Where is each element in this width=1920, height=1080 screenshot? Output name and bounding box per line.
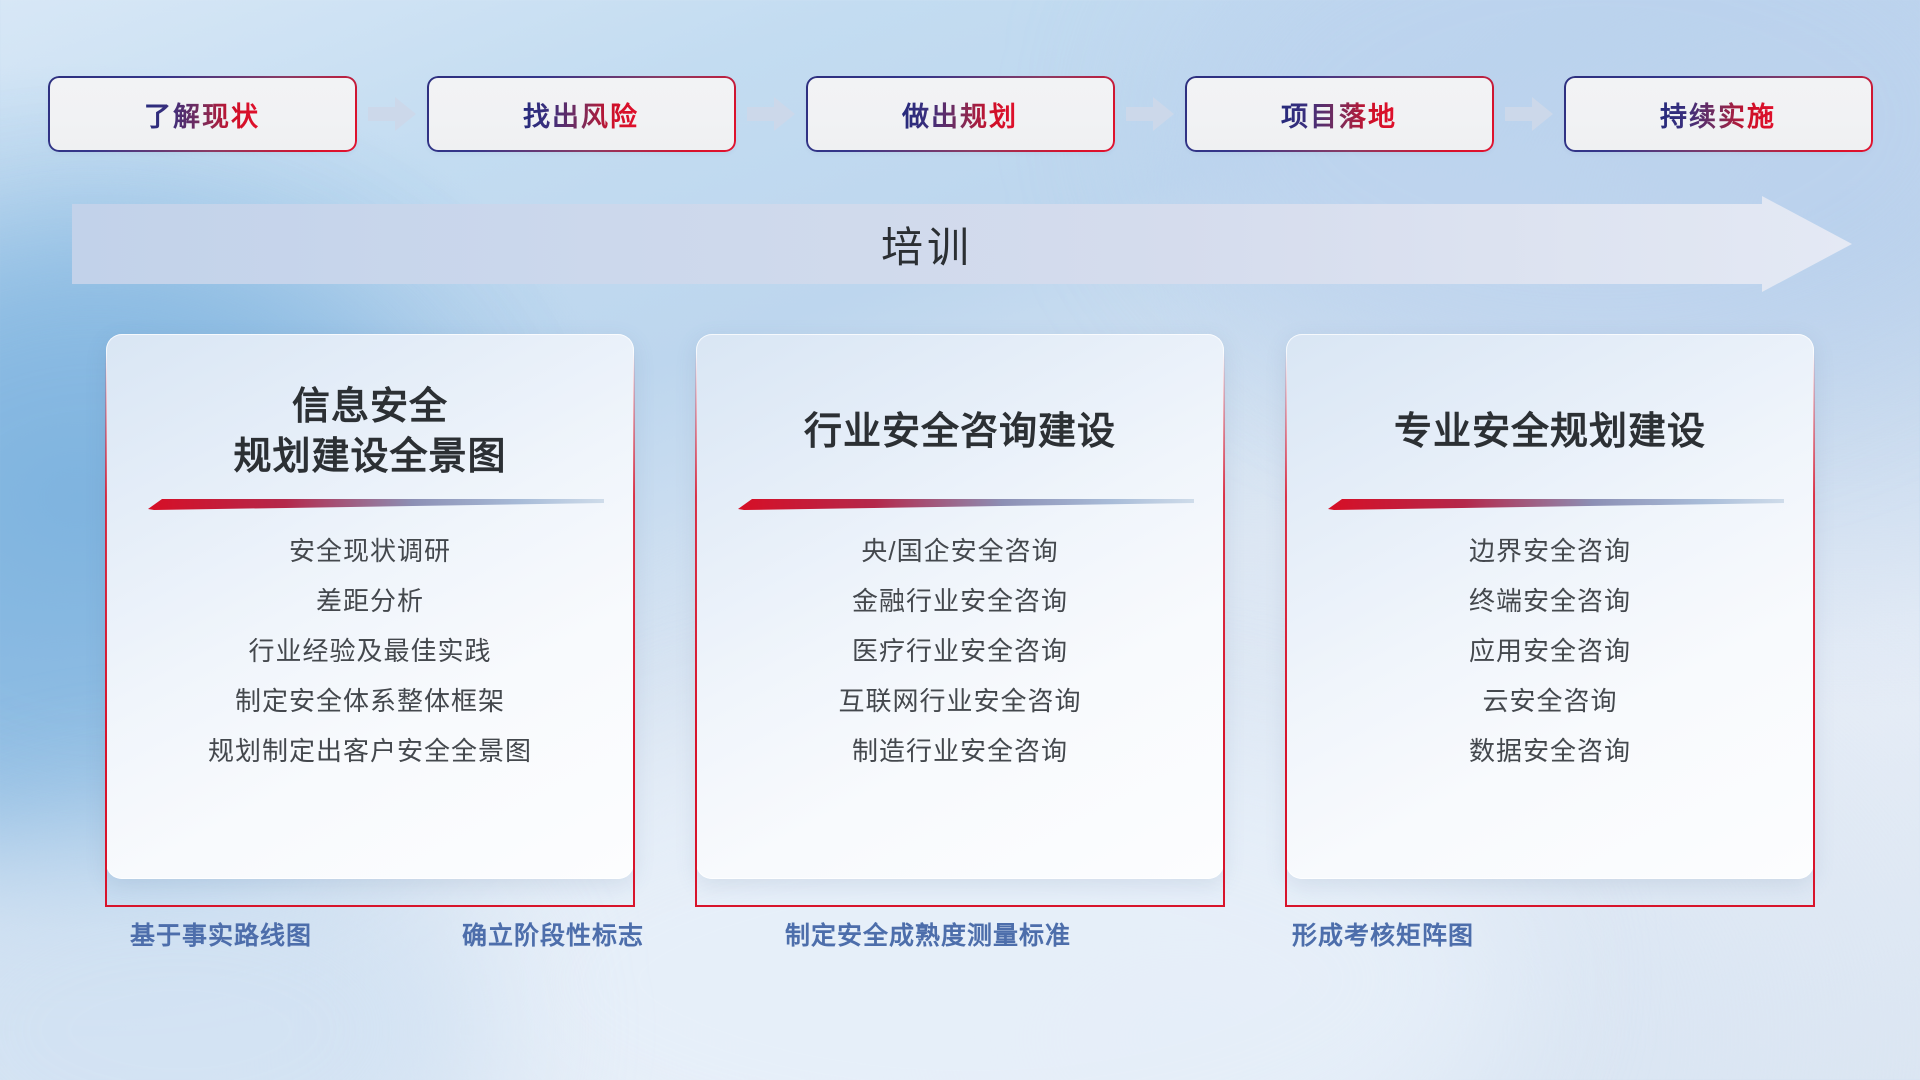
list-item: 数据安全咨询 bbox=[1322, 738, 1778, 764]
card-row: 信息安全 规划建设全景图 安全现状调研 差距分析 行业经 bbox=[0, 334, 1920, 879]
list-item: 云安全咨询 bbox=[1322, 688, 1778, 714]
step-box-4[interactable]: 项目落地 bbox=[1187, 78, 1492, 150]
list-item: 边界安全咨询 bbox=[1322, 538, 1778, 564]
list-item: 安全现状调研 bbox=[142, 538, 598, 564]
step-label: 找出风险 bbox=[523, 95, 639, 134]
caption-roadmap: 基于事实路线图 bbox=[130, 916, 312, 952]
card-divider-rule bbox=[738, 498, 1182, 512]
card-title: 行业安全咨询建设 bbox=[732, 380, 1188, 484]
card-title-line: 专业安全规划建设 bbox=[1322, 407, 1778, 457]
training-banner: 培训 bbox=[72, 196, 1852, 292]
card-title: 信息安全 规划建设全景图 bbox=[142, 380, 598, 484]
list-item: 医疗行业安全咨询 bbox=[732, 638, 1188, 664]
step-box-3[interactable]: 做出规划 bbox=[808, 78, 1113, 150]
list-item: 终端安全咨询 bbox=[1322, 588, 1778, 614]
step-label: 了解现状 bbox=[144, 95, 260, 134]
caption-maturity-standard: 制定安全成熟度测量标准 bbox=[785, 916, 1071, 952]
step-box-2[interactable]: 找出风险 bbox=[429, 78, 734, 150]
right-arrow-icon bbox=[1124, 94, 1176, 134]
card-item-list: 央/国企安全咨询 金融行业安全咨询 医疗行业安全咨询 互联网行业安全咨询 制造行… bbox=[732, 538, 1188, 764]
card-item-list: 安全现状调研 差距分析 行业经验及最佳实践 制定安全体系整体框架 规划制定出客户… bbox=[142, 538, 598, 764]
card-bottom-rule bbox=[1285, 905, 1815, 907]
caption-assessment-matrix: 形成考核矩阵图 bbox=[1292, 916, 1474, 952]
caption-row: 基于事实路线图 确立阶段性标志 制定安全成熟度测量标准 形成考核矩阵图 bbox=[0, 916, 1920, 964]
card-title: 专业安全规划建设 bbox=[1322, 380, 1778, 484]
list-item: 应用安全咨询 bbox=[1322, 638, 1778, 664]
list-item: 央/国企安全咨询 bbox=[732, 538, 1188, 564]
caption-milestones: 确立阶段性标志 bbox=[462, 916, 644, 952]
step-label: 项目落地 bbox=[1281, 95, 1397, 134]
card-industry-security-consulting[interactable]: 行业安全咨询建设 央/国企安全咨询 金融行业安全咨询 医疗行业安全咨 bbox=[696, 334, 1224, 879]
list-item: 制定安全体系整体框架 bbox=[142, 688, 598, 714]
list-item: 差距分析 bbox=[142, 588, 598, 614]
right-arrow-icon bbox=[745, 94, 797, 134]
list-item: 规划制定出客户安全全景图 bbox=[142, 738, 598, 764]
right-arrow-icon bbox=[1503, 94, 1555, 134]
banner-label: 培训 bbox=[72, 196, 1852, 292]
card-professional-security-planning[interactable]: 专业安全规划建设 边界安全咨询 终端安全咨询 应用安全咨询 bbox=[1286, 334, 1814, 879]
step-label: 持续实施 bbox=[1660, 95, 1776, 134]
card-title-line: 信息安全 bbox=[142, 382, 598, 432]
process-step-row: 了解现状 找出风险 做出规划 项目落地 持续实施 bbox=[0, 78, 1920, 150]
step-label: 做出规划 bbox=[902, 95, 1018, 134]
list-item: 互联网行业安全咨询 bbox=[732, 688, 1188, 714]
right-arrow-icon bbox=[366, 94, 418, 134]
card-title-line: 行业安全咨询建设 bbox=[732, 407, 1188, 457]
card-information-security-blueprint[interactable]: 信息安全 规划建设全景图 安全现状调研 差距分析 行业经 bbox=[106, 334, 634, 879]
card-divider-rule bbox=[148, 498, 592, 512]
card-bottom-rule bbox=[695, 905, 1225, 907]
step-box-1[interactable]: 了解现状 bbox=[50, 78, 355, 150]
step-box-5[interactable]: 持续实施 bbox=[1566, 78, 1871, 150]
list-item: 制造行业安全咨询 bbox=[732, 738, 1188, 764]
card-title-line: 规划建设全景图 bbox=[142, 432, 598, 482]
list-item: 行业经验及最佳实践 bbox=[142, 638, 598, 664]
card-item-list: 边界安全咨询 终端安全咨询 应用安全咨询 云安全咨询 数据安全咨询 bbox=[1322, 538, 1778, 764]
list-item: 金融行业安全咨询 bbox=[732, 588, 1188, 614]
card-divider-rule bbox=[1328, 498, 1772, 512]
card-bottom-rule bbox=[105, 905, 635, 907]
